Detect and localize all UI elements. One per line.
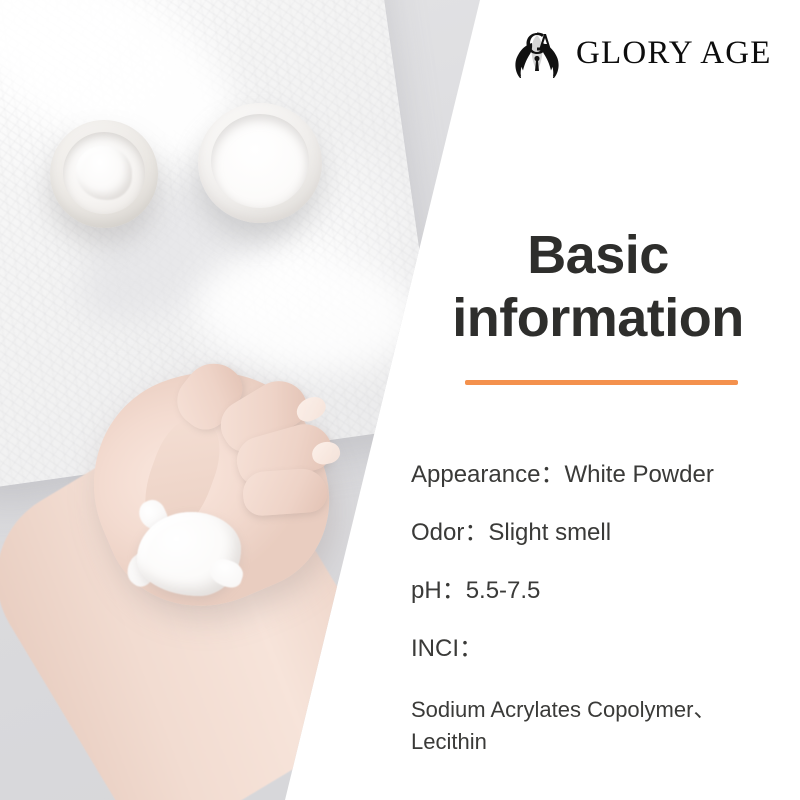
spec-inci-separator: ： — [459, 635, 483, 662]
spec-odor-value: Slight smell — [488, 519, 611, 546]
spec-ph-label: pH — [411, 577, 442, 604]
accent-divider — [465, 380, 738, 385]
spec-list: Appearance：White Powder Odor：Slight smel… — [411, 460, 791, 758]
spec-appearance: Appearance：White Powder — [411, 460, 791, 490]
product-info-graphic: GLORY AGE Basic information Appearance：W… — [0, 0, 800, 800]
page-title-line1: Basic — [408, 224, 788, 287]
page-title: Basic information — [408, 224, 788, 349]
spec-inci-label: INCI — [411, 635, 459, 662]
spec-appearance-value: White Powder — [564, 461, 713, 488]
spec-odor-separator: ： — [464, 519, 488, 546]
cream-jar-empty — [198, 103, 322, 223]
brand-name: GLORY AGE — [576, 35, 772, 72]
info-panel: GLORY AGE Basic information Appearance：W… — [390, 0, 800, 800]
cream-jar-filled — [50, 120, 158, 228]
brand-logo: GLORY AGE — [510, 28, 772, 78]
spec-odor: Odor：Slight smell — [411, 518, 791, 548]
glory-age-winged-monogram-icon — [510, 28, 564, 78]
jar-inner — [211, 114, 309, 208]
finger — [242, 467, 329, 517]
spec-odor-label: Odor — [411, 519, 464, 546]
spec-appearance-separator: ： — [540, 461, 564, 488]
spec-appearance-label: Appearance — [411, 461, 540, 488]
spec-ph-value: 5.5-7.5 — [466, 577, 541, 604]
spec-inci-header: INCI： — [411, 634, 791, 664]
cream-swirl — [76, 146, 132, 200]
spec-ph: pH：5.5-7.5 — [411, 576, 791, 606]
spec-inci-value: Sodium Acrylates Copolymer、Lecithin — [411, 694, 763, 758]
spec-ph-separator: ： — [442, 577, 466, 604]
page-title-line2: information — [408, 287, 788, 350]
